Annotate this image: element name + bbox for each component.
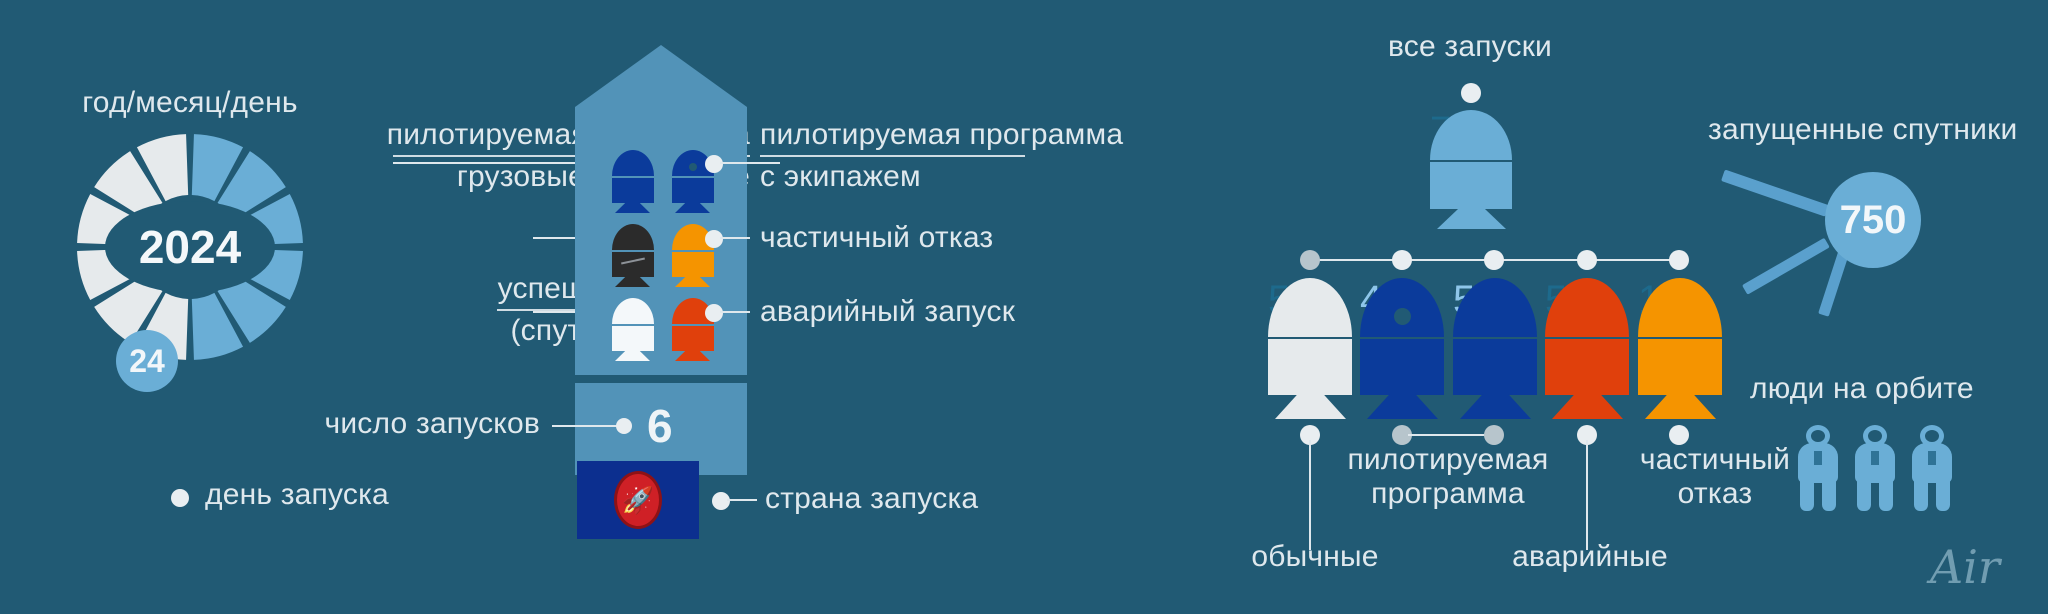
total-launches-label: все запуски: [1320, 30, 1620, 64]
calendar-title: год/месяц/день: [45, 86, 335, 120]
chart-bottom-dot-2: [1484, 425, 1504, 445]
people-title: люди на орбите: [1750, 372, 1974, 406]
legend-right-label-3: аварийный запуск: [760, 295, 1320, 329]
chart-rail-dot-2: [1484, 250, 1504, 270]
rocket-tail: [615, 276, 650, 287]
satellite-antenna-2: [1742, 238, 1830, 295]
day-legend-label: день запуска: [205, 478, 389, 512]
astronaut-leg-left: [1857, 477, 1871, 511]
chart-rocket-3: 5: [1545, 278, 1629, 418]
astronaut-chest-panel: [1814, 451, 1822, 465]
rocket-body: [1545, 339, 1629, 395]
chart-bottom-label-0: обычные: [1230, 540, 1400, 574]
infographic-root: год/месяц/день 2024 24 день запуска пило…: [0, 0, 2048, 614]
astronaut-chest-panel: [1871, 451, 1879, 465]
launch-count-dot: [616, 418, 632, 434]
rocket-tail: [615, 350, 650, 361]
rocket-body: [672, 178, 714, 203]
legend-right-label-0: пилотируемая программа: [760, 118, 1320, 152]
legend-connector-right-1: [720, 237, 750, 239]
legend-connector-left-0: [393, 162, 586, 164]
legend-right-label-1: с экипажем: [760, 160, 1320, 194]
day-legend-dot: [171, 489, 189, 507]
rocket-tail: [675, 276, 710, 287]
satellite-antenna-1: [1721, 170, 1829, 217]
legend-right-label-2: частичный отказ: [760, 221, 1320, 255]
total-launches-dot: [1461, 83, 1481, 103]
rocket-body: [612, 252, 654, 277]
astronaut-leg-right: [1879, 477, 1893, 511]
chart-bottom-stem-0: [1309, 440, 1311, 550]
launch-count-label: число запусков: [280, 407, 540, 441]
rocket-body: [672, 326, 714, 351]
rocket-body: [672, 252, 714, 277]
chart-bottom-label-1: пилотируемая программа: [1343, 443, 1553, 510]
country-dot: [712, 492, 730, 510]
chart-rocket-2: 5: [1453, 278, 1537, 418]
chart-bottom-label-2: аварийные: [1500, 540, 1680, 574]
country-connector: [727, 499, 757, 501]
rocket-body: [1638, 339, 1722, 395]
satellites-value: 750: [1825, 172, 1921, 268]
legend-dot-right-1: [705, 230, 723, 248]
rocket-body: [1360, 339, 1444, 395]
chart-rail-dot-3: [1577, 250, 1597, 270]
astronaut-chest-panel: [1928, 451, 1936, 465]
rocket-porthole: [689, 163, 697, 171]
rocket-tail: [1367, 394, 1438, 419]
signature: Air: [1930, 540, 2000, 594]
country-flag: 🚀: [577, 461, 699, 539]
chart-rocket-0: 55: [1268, 278, 1352, 418]
legend-connector-right-2: [720, 311, 750, 313]
rocket-body: [612, 178, 654, 203]
chart-rocket-1: 4: [1360, 278, 1444, 418]
rocket-nose: [612, 150, 654, 176]
rocket-tail: [1437, 208, 1506, 229]
payload-rocket: [612, 150, 654, 212]
chart-bottom-rail-1: [1408, 434, 1490, 436]
legend-dot-right-0: [705, 155, 723, 173]
astronaut-leg-right: [1822, 477, 1836, 511]
rocket-tail: [615, 202, 650, 213]
day-badge: 24: [116, 330, 178, 392]
successful-rocket: [612, 298, 654, 360]
rocket-icon: 🚀: [614, 471, 662, 529]
rocket-body: [1453, 339, 1537, 395]
rocket-tail: [1645, 394, 1716, 419]
astronaut-leg-right: [1936, 477, 1950, 511]
rocket-body: [1268, 339, 1352, 395]
rocket-porthole: [1394, 308, 1411, 325]
launch-count-connector: [552, 425, 620, 427]
launch-count-value: 6: [647, 399, 673, 453]
astronaut-icon: [1795, 425, 1841, 511]
astronaut-icon: [1852, 425, 1898, 511]
rocket-nose: [612, 224, 654, 250]
total-launches-rocket-icon: 70: [1430, 110, 1512, 228]
astronaut-icon: [1909, 425, 1955, 511]
rocket-tail: [1275, 394, 1346, 419]
astronaut-leg-left: [1914, 477, 1928, 511]
chart-rail-dot-1: [1392, 250, 1412, 270]
rocket-nose: [612, 298, 654, 324]
legend-underline-r0: [760, 155, 1025, 157]
chart-rail-dot-0: [1300, 250, 1320, 270]
astronaut-leg-left: [1800, 477, 1814, 511]
rocket-tail: [1552, 394, 1623, 419]
rocket-tail: [675, 202, 710, 213]
chart-bottom-dot-4: [1669, 425, 1689, 445]
rocket-tail: [1460, 394, 1531, 419]
chart-bottom-stem-3: [1586, 440, 1588, 550]
chart-rail-dot-4: [1669, 250, 1689, 270]
chart-rocket-4: 1: [1638, 278, 1722, 418]
chart-bottom-label-3: частичный отказ: [1620, 443, 1810, 510]
rocket-tail: [675, 350, 710, 361]
legend-panel-top: [575, 45, 747, 375]
satellites-title: запущенные спутники: [1708, 113, 2017, 147]
legend-dot-right-2: [705, 304, 723, 322]
rocket-body: [1430, 162, 1512, 209]
spacex-rocket: [612, 224, 654, 286]
country-label: страна запуска: [765, 482, 978, 516]
rocket-body: [612, 326, 654, 351]
